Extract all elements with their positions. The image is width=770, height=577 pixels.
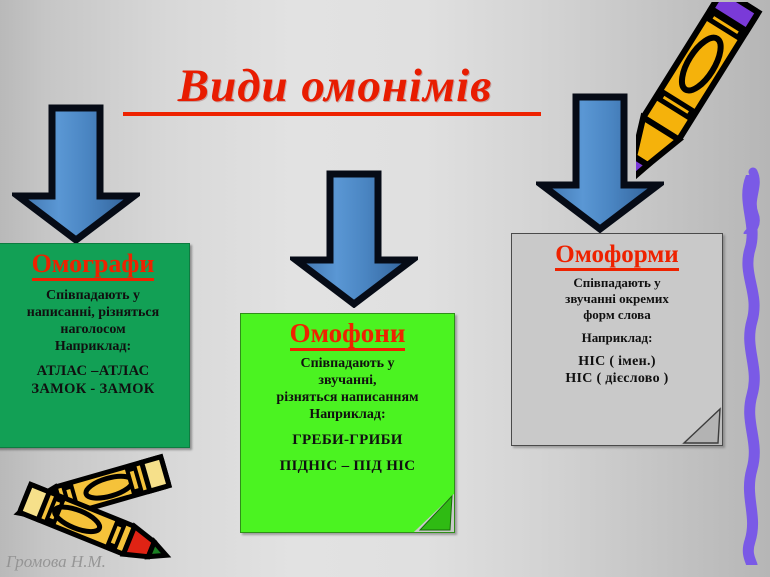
example-item: ГРЕБИ-ГРИБИ bbox=[246, 431, 449, 449]
page-fold-icon bbox=[680, 407, 722, 445]
title-underline bbox=[123, 112, 541, 116]
definition-line: форм слова bbox=[517, 307, 717, 323]
card-omofony: Омофони Співпадають у звучанні, різнятьс… bbox=[240, 313, 455, 533]
example-item: НІС ( імен.) bbox=[517, 353, 717, 370]
example-label: Наприклад: bbox=[517, 330, 717, 346]
definition-line: наголосом bbox=[1, 321, 185, 338]
card-omoformy-heading: Омоформи bbox=[555, 242, 678, 271]
card-omohrafy-body: Співпадають у написанні, різняться нагол… bbox=[1, 287, 185, 398]
definition-line: Співпадають у bbox=[246, 355, 449, 372]
card-omoformy: Омоформи Співпадають у звучанні окремих … bbox=[511, 233, 723, 446]
card-omohrafy-heading: Омографи bbox=[32, 251, 155, 281]
arrow-to-omohrafy bbox=[12, 104, 140, 244]
card-omofony-heading: Омофони bbox=[290, 320, 406, 351]
definition-line: звучанні окремих bbox=[517, 291, 717, 307]
definition-line: Співпадають у bbox=[517, 275, 717, 291]
arrow-to-omofony bbox=[290, 170, 418, 308]
definition-line: написанні, різняться bbox=[1, 304, 185, 321]
example-item: НІС ( дієслово ) bbox=[517, 370, 717, 387]
page-title: Види омонімів bbox=[120, 62, 550, 116]
card-omofony-body: Співпадають у звучанні, різняться написа… bbox=[246, 355, 449, 475]
definition-line: звучанні, bbox=[246, 372, 449, 389]
example-item: АТЛАС –АТЛАС bbox=[1, 363, 185, 381]
card-omoformy-body: Співпадають у звучанні окремих форм слов… bbox=[517, 275, 717, 387]
page-fold-icon bbox=[414, 494, 454, 532]
author-watermark: Громова Н.М. bbox=[6, 552, 106, 572]
page-title-text: Види омонімів bbox=[120, 62, 550, 111]
definition-line: різняться написанням bbox=[246, 389, 449, 406]
example-label: Наприклад: bbox=[246, 406, 449, 423]
example-item: ЗАМОК - ЗАМОК bbox=[1, 381, 185, 399]
definition-line: Співпадають у bbox=[1, 287, 185, 304]
slide-canvas: Види омонімів bbox=[0, 0, 770, 577]
card-omohrafy: Омографи Співпадають у написанні, різнят… bbox=[0, 243, 190, 448]
purple-squiggle-line bbox=[726, 175, 770, 565]
example-item: ПІДНІС – ПІД НІС bbox=[246, 457, 449, 475]
example-label: Наприклад: bbox=[1, 338, 185, 355]
